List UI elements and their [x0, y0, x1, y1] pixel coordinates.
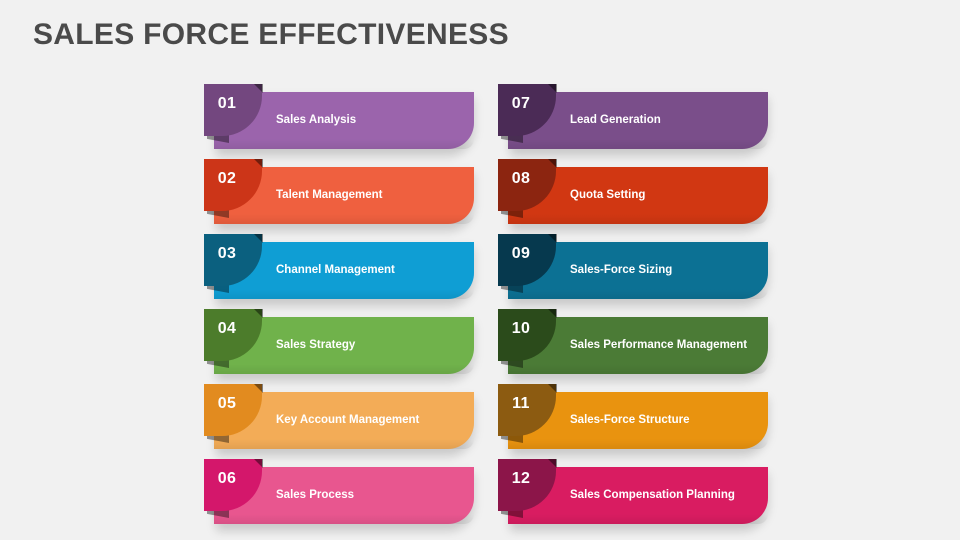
card-label: Sales Analysis: [276, 92, 462, 149]
card-label: Lead Generation: [570, 92, 756, 149]
process-card-04[interactable]: 04Sales Strategy: [196, 309, 474, 381]
card-label: Channel Management: [276, 242, 462, 299]
process-card-05[interactable]: 05Key Account Management: [196, 384, 474, 456]
process-card-08[interactable]: 08Quota Setting: [490, 159, 768, 231]
card-label: Sales Compensation Planning: [570, 467, 756, 524]
card-number: 03: [204, 234, 250, 274]
card-number: 10: [498, 309, 544, 349]
card-label: Sales Performance Management: [570, 317, 756, 374]
card-number: 08: [498, 159, 544, 199]
process-card-07[interactable]: 07Lead Generation: [490, 84, 768, 156]
card-label: Sales-Force Sizing: [570, 242, 756, 299]
process-card-12[interactable]: 12Sales Compensation Planning: [490, 459, 768, 531]
process-card-10[interactable]: 10Sales Performance Management: [490, 309, 768, 381]
card-number: 07: [498, 84, 544, 124]
card-label: Sales Strategy: [276, 317, 462, 374]
card-number: 12: [498, 459, 544, 499]
card-label: Sales-Force Structure: [570, 392, 756, 449]
card-number: 09: [498, 234, 544, 274]
card-grid: 01Sales Analysis02Talent Management03Cha…: [0, 0, 960, 540]
card-label: Sales Process: [276, 467, 462, 524]
card-label: Quota Setting: [570, 167, 756, 224]
card-number: 02: [204, 159, 250, 199]
process-card-03[interactable]: 03Channel Management: [196, 234, 474, 306]
process-card-02[interactable]: 02Talent Management: [196, 159, 474, 231]
card-label: Talent Management: [276, 167, 462, 224]
process-card-11[interactable]: 11Sales-Force Structure: [490, 384, 768, 456]
process-card-09[interactable]: 09Sales-Force Sizing: [490, 234, 768, 306]
process-card-01[interactable]: 01Sales Analysis: [196, 84, 474, 156]
card-number: 11: [498, 384, 544, 424]
card-number: 01: [204, 84, 250, 124]
card-number: 05: [204, 384, 250, 424]
slide-canvas: SALES FORCE EFFECTIVENESS 01Sales Analys…: [0, 0, 960, 540]
card-label: Key Account Management: [276, 392, 462, 449]
card-number: 06: [204, 459, 250, 499]
card-number: 04: [204, 309, 250, 349]
process-card-06[interactable]: 06Sales Process: [196, 459, 474, 531]
